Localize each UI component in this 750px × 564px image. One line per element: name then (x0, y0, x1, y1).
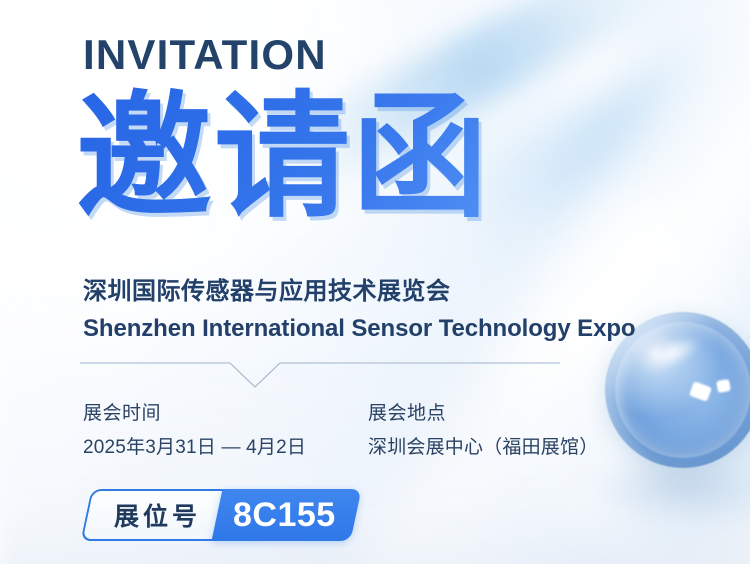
invitation-chinese-title-wrap: 邀请函 (76, 78, 596, 248)
invitation-poster: INVITATION 邀请函 深圳国际传感器与应用技术展览会 Shenzhen … (0, 0, 750, 564)
poster-content: INVITATION 邀请函 深圳国际传感器与应用技术展览会 Shenzhen … (0, 0, 750, 564)
page-title: 邀请函 (76, 78, 596, 238)
booth-number-section: 8C155 (211, 489, 361, 541)
booth-label: 展位号 (114, 497, 201, 533)
booth-label-section: 展位号 (80, 489, 224, 541)
event-venue-value: 深圳会展中心（福田展馆） (368, 434, 643, 463)
invitation-english-title: INVITATION (83, 34, 327, 76)
booth-number-badge: 展位号 8C155 (86, 489, 356, 541)
expo-name-english: Shenzhen International Sensor Technology… (83, 315, 635, 344)
event-venue-label: 展会地点 (368, 400, 643, 428)
event-date-label: 展会时间 (83, 400, 368, 428)
event-venue-block: 展会地点 深圳会展中心（福田展馆） (368, 400, 643, 462)
booth-number: 8C155 (233, 498, 336, 532)
event-date-block: 展会时间 2025年3月31日 — 4月2日 (83, 400, 368, 462)
event-date-value: 2025年3月31日 — 4月2日 (83, 434, 368, 463)
event-info-row: 展会时间 2025年3月31日 — 4月2日 展会地点 深圳会展中心（福田展馆） (83, 400, 643, 462)
expo-name-chinese: 深圳国际传感器与应用技术展览会 (83, 278, 451, 307)
divider-line (80, 363, 560, 387)
divider-with-notch (80, 355, 560, 391)
